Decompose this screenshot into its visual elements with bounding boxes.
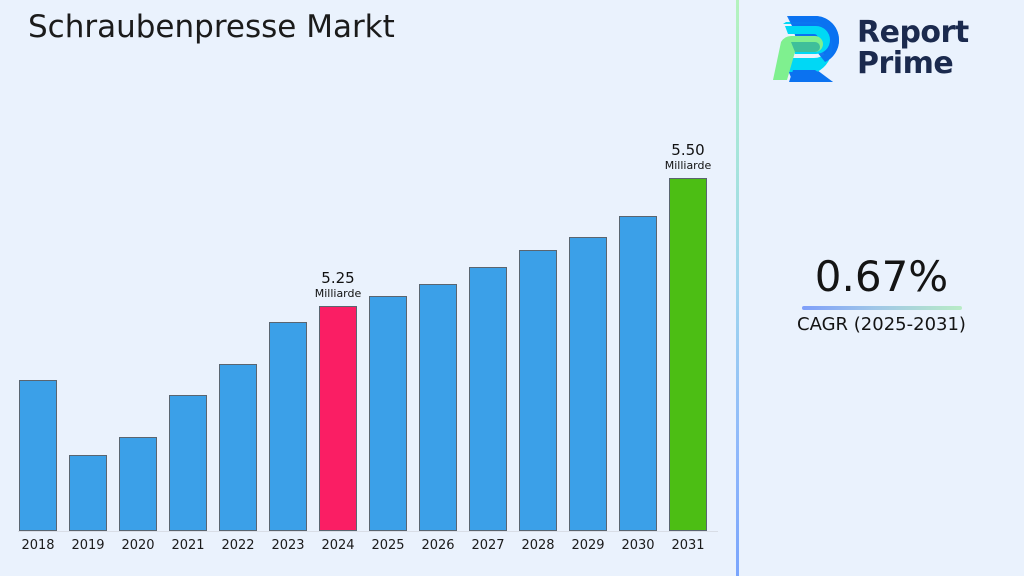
info-panel: Report Prime 0.67% CAGR (2025-2031)	[739, 0, 1024, 576]
bar-2024[interactable]	[319, 306, 357, 531]
chart-screenshot-root: Schraubenpresse Markt 201820192020202120…	[0, 0, 1024, 576]
x-axis-label-2024: 2024	[319, 538, 357, 553]
x-axis-label-2027: 2027	[469, 538, 507, 553]
bar-2022[interactable]	[219, 364, 257, 531]
bar-value-number: 5.25	[315, 270, 362, 287]
bar-group: 5.25Milliarde	[319, 306, 357, 531]
bar-group	[619, 216, 657, 531]
bar-2023[interactable]	[269, 322, 307, 531]
bar-2030[interactable]	[619, 216, 657, 531]
cagr-block: 0.67% CAGR (2025-2031)	[739, 252, 1024, 337]
bar-group	[19, 380, 57, 531]
x-axis-label-2029: 2029	[569, 538, 607, 553]
bar-group	[469, 267, 507, 531]
x-axis-label-2018: 2018	[19, 538, 57, 553]
x-axis-label-2021: 2021	[169, 538, 207, 553]
plot-area: 2018201920202021202220235.25Milliarde202…	[0, 0, 737, 576]
bar-group	[219, 364, 257, 531]
bar-value-label-2024: 5.25Milliarde	[315, 270, 362, 300]
chart-panel: Schraubenpresse Markt 201820192020202120…	[0, 0, 737, 576]
x-axis-label-2025: 2025	[369, 538, 407, 553]
bar-value-number: 5.50	[665, 142, 712, 159]
bar-group	[169, 395, 207, 531]
bar-value-unit: Milliarde	[315, 287, 362, 300]
x-axis-label-2019: 2019	[69, 538, 107, 553]
cagr-value: 0.67%	[739, 252, 1024, 302]
bar-group	[419, 284, 457, 531]
bar-group	[269, 322, 307, 531]
x-axis-label-2026: 2026	[419, 538, 457, 553]
bar-2026[interactable]	[419, 284, 457, 531]
bar-group	[119, 437, 157, 531]
bar-2028[interactable]	[519, 250, 557, 531]
bar-2020[interactable]	[119, 437, 157, 531]
cagr-caption: CAGR (2025-2031)	[739, 313, 1024, 337]
brand-name-line1: Report	[857, 17, 969, 48]
bar-2021[interactable]	[169, 395, 207, 531]
bar-group	[569, 237, 607, 531]
x-axis-label-2023: 2023	[269, 538, 307, 553]
x-axis-label-2031: 2031	[669, 538, 707, 553]
bar-2019[interactable]	[69, 455, 107, 531]
brand-name-line2: Prime	[857, 48, 969, 79]
cagr-divider-rule	[802, 306, 962, 310]
bar-2027[interactable]	[469, 267, 507, 531]
bar-group	[69, 455, 107, 531]
bar-group	[519, 250, 557, 531]
bar-2025[interactable]	[369, 296, 407, 531]
bar-value-label-2031: 5.50Milliarde	[665, 142, 712, 172]
bar-group	[369, 296, 407, 531]
bar-2018[interactable]	[19, 380, 57, 531]
brand-logo: Report Prime	[769, 8, 999, 88]
x-axis-label-2028: 2028	[519, 538, 557, 553]
brand-wordmark: Report Prime	[857, 17, 969, 79]
x-axis-line	[18, 531, 718, 532]
x-axis-label-2030: 2030	[619, 538, 657, 553]
bar-2031[interactable]	[669, 178, 707, 531]
report-prime-r-logo-icon	[769, 12, 847, 84]
x-axis-label-2020: 2020	[119, 538, 157, 553]
bar-2029[interactable]	[569, 237, 607, 531]
x-axis-label-2022: 2022	[219, 538, 257, 553]
bar-group: 5.50Milliarde	[669, 178, 707, 531]
bar-value-unit: Milliarde	[665, 159, 712, 172]
